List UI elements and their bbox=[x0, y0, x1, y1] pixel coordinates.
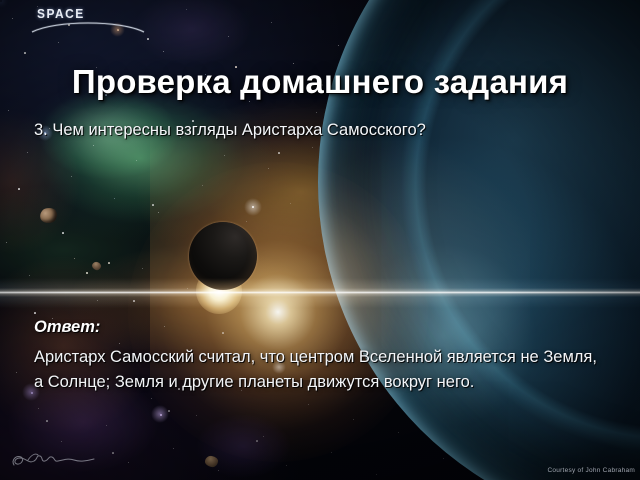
answer-label: Ответ: bbox=[34, 316, 604, 338]
space-logo: SPACE bbox=[30, 4, 146, 34]
question-text: 3. Чем интересны взгляды Аристарха Самос… bbox=[34, 119, 609, 141]
artist-signature bbox=[8, 448, 100, 472]
courtesy-credit: Courtesy of John Cabraham bbox=[547, 467, 635, 474]
answer-block: Ответ: Аристарх Самосский считал, что це… bbox=[34, 316, 604, 395]
space-presentation-slide: SPACE Проверка домашнего задания 3. Чем … bbox=[0, 0, 640, 480]
page-title: Проверка домашнего задания bbox=[0, 62, 640, 102]
answer-text: Аристарх Самосский считал, что центром В… bbox=[34, 345, 604, 395]
slide-content: SPACE Проверка домашнего задания 3. Чем … bbox=[0, 0, 640, 480]
logo-arc-icon bbox=[30, 18, 146, 34]
